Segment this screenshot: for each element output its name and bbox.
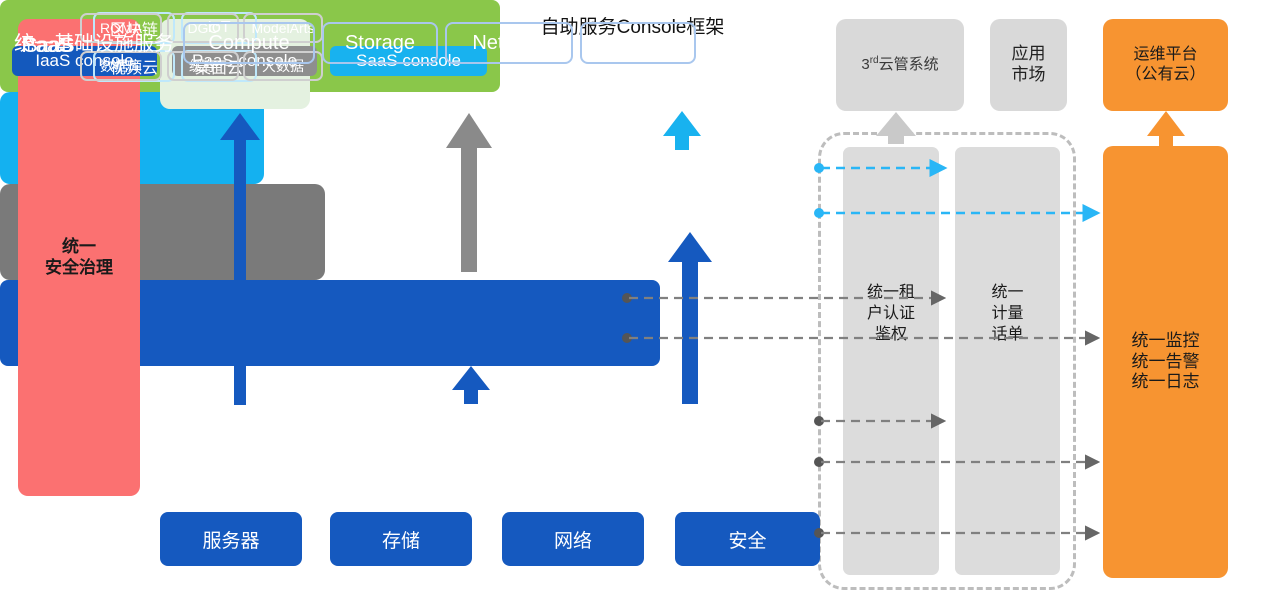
metering-line-1: 统一 (955, 283, 1060, 304)
resource-box-server[interactable]: 服务器 (160, 512, 302, 566)
third-party-label: 3rd云管系统 (861, 55, 938, 74)
resource-box-storage[interactable]: 存储 (330, 512, 472, 566)
app-market-line-2: 市场 (1012, 65, 1046, 86)
arrow-to-ops-platform (1147, 111, 1185, 146)
app-market-line-1: 应用 (1012, 44, 1046, 65)
unified-monitoring-panel[interactable]: 统一监控 统一告警 统一日志 (1103, 146, 1228, 578)
metering-line-3: 话单 (955, 325, 1060, 346)
metering-line-2: 计量 (955, 304, 1060, 325)
governance-line-2: 安全治理 (45, 258, 113, 279)
unified-tenant-auth-bar[interactable] (843, 147, 939, 575)
arrow-saas-to-console (663, 111, 701, 150)
unified-tenant-auth-label: 统一租 户认证 鉴权 (843, 283, 939, 345)
ops-panel-line-2: 统一告警 (1132, 352, 1200, 373)
third-party-cloud-management-box[interactable]: 3rd云管系统 (836, 19, 964, 111)
infrastructure-label: 统一基础设施服务 (14, 27, 174, 56)
ops-platform-line-2: （公有云） (1125, 65, 1205, 85)
resource-box-network[interactable]: 网络 (502, 512, 644, 566)
infra-tag-storage[interactable]: Storage (322, 22, 438, 64)
arrow-paas-to-console (446, 113, 492, 272)
third-party-ordinal: rd (870, 55, 879, 66)
app-market-box[interactable]: 应用 市场 (990, 19, 1067, 111)
ops-platform-box[interactable]: 运维平台 （公有云） (1103, 19, 1228, 111)
resource-box-security[interactable]: 安全 (675, 512, 820, 566)
architecture-diagram: 统一 安全治理 API网关 自助服务Console框架 IaaS console… (0, 0, 1265, 605)
ops-panel-line-3: 统一日志 (1132, 372, 1200, 393)
auth-line-3: 鉴权 (843, 325, 939, 346)
infra-tag-cce[interactable]: CCE (580, 22, 696, 64)
ops-panel-line-1: 统一监控 (1132, 331, 1200, 352)
governance-line-1: 统一 (45, 237, 113, 258)
auth-line-1: 统一租 (843, 283, 939, 304)
infra-tag-network[interactable]: Network (445, 22, 573, 64)
auth-line-2: 户认证 (843, 304, 939, 325)
arrow-infra-to-paas (452, 366, 490, 404)
ops-platform-line-1: 运维平台 (1125, 45, 1205, 65)
arrow-infra-to-saas (668, 232, 712, 404)
unified-metering-label: 统一 计量 话单 (955, 283, 1060, 345)
unified-security-governance-panel[interactable]: 统一 安全治理 (18, 19, 140, 496)
infra-tag-compute[interactable]: Compute (183, 22, 315, 64)
unified-metering-bar[interactable] (955, 147, 1060, 575)
